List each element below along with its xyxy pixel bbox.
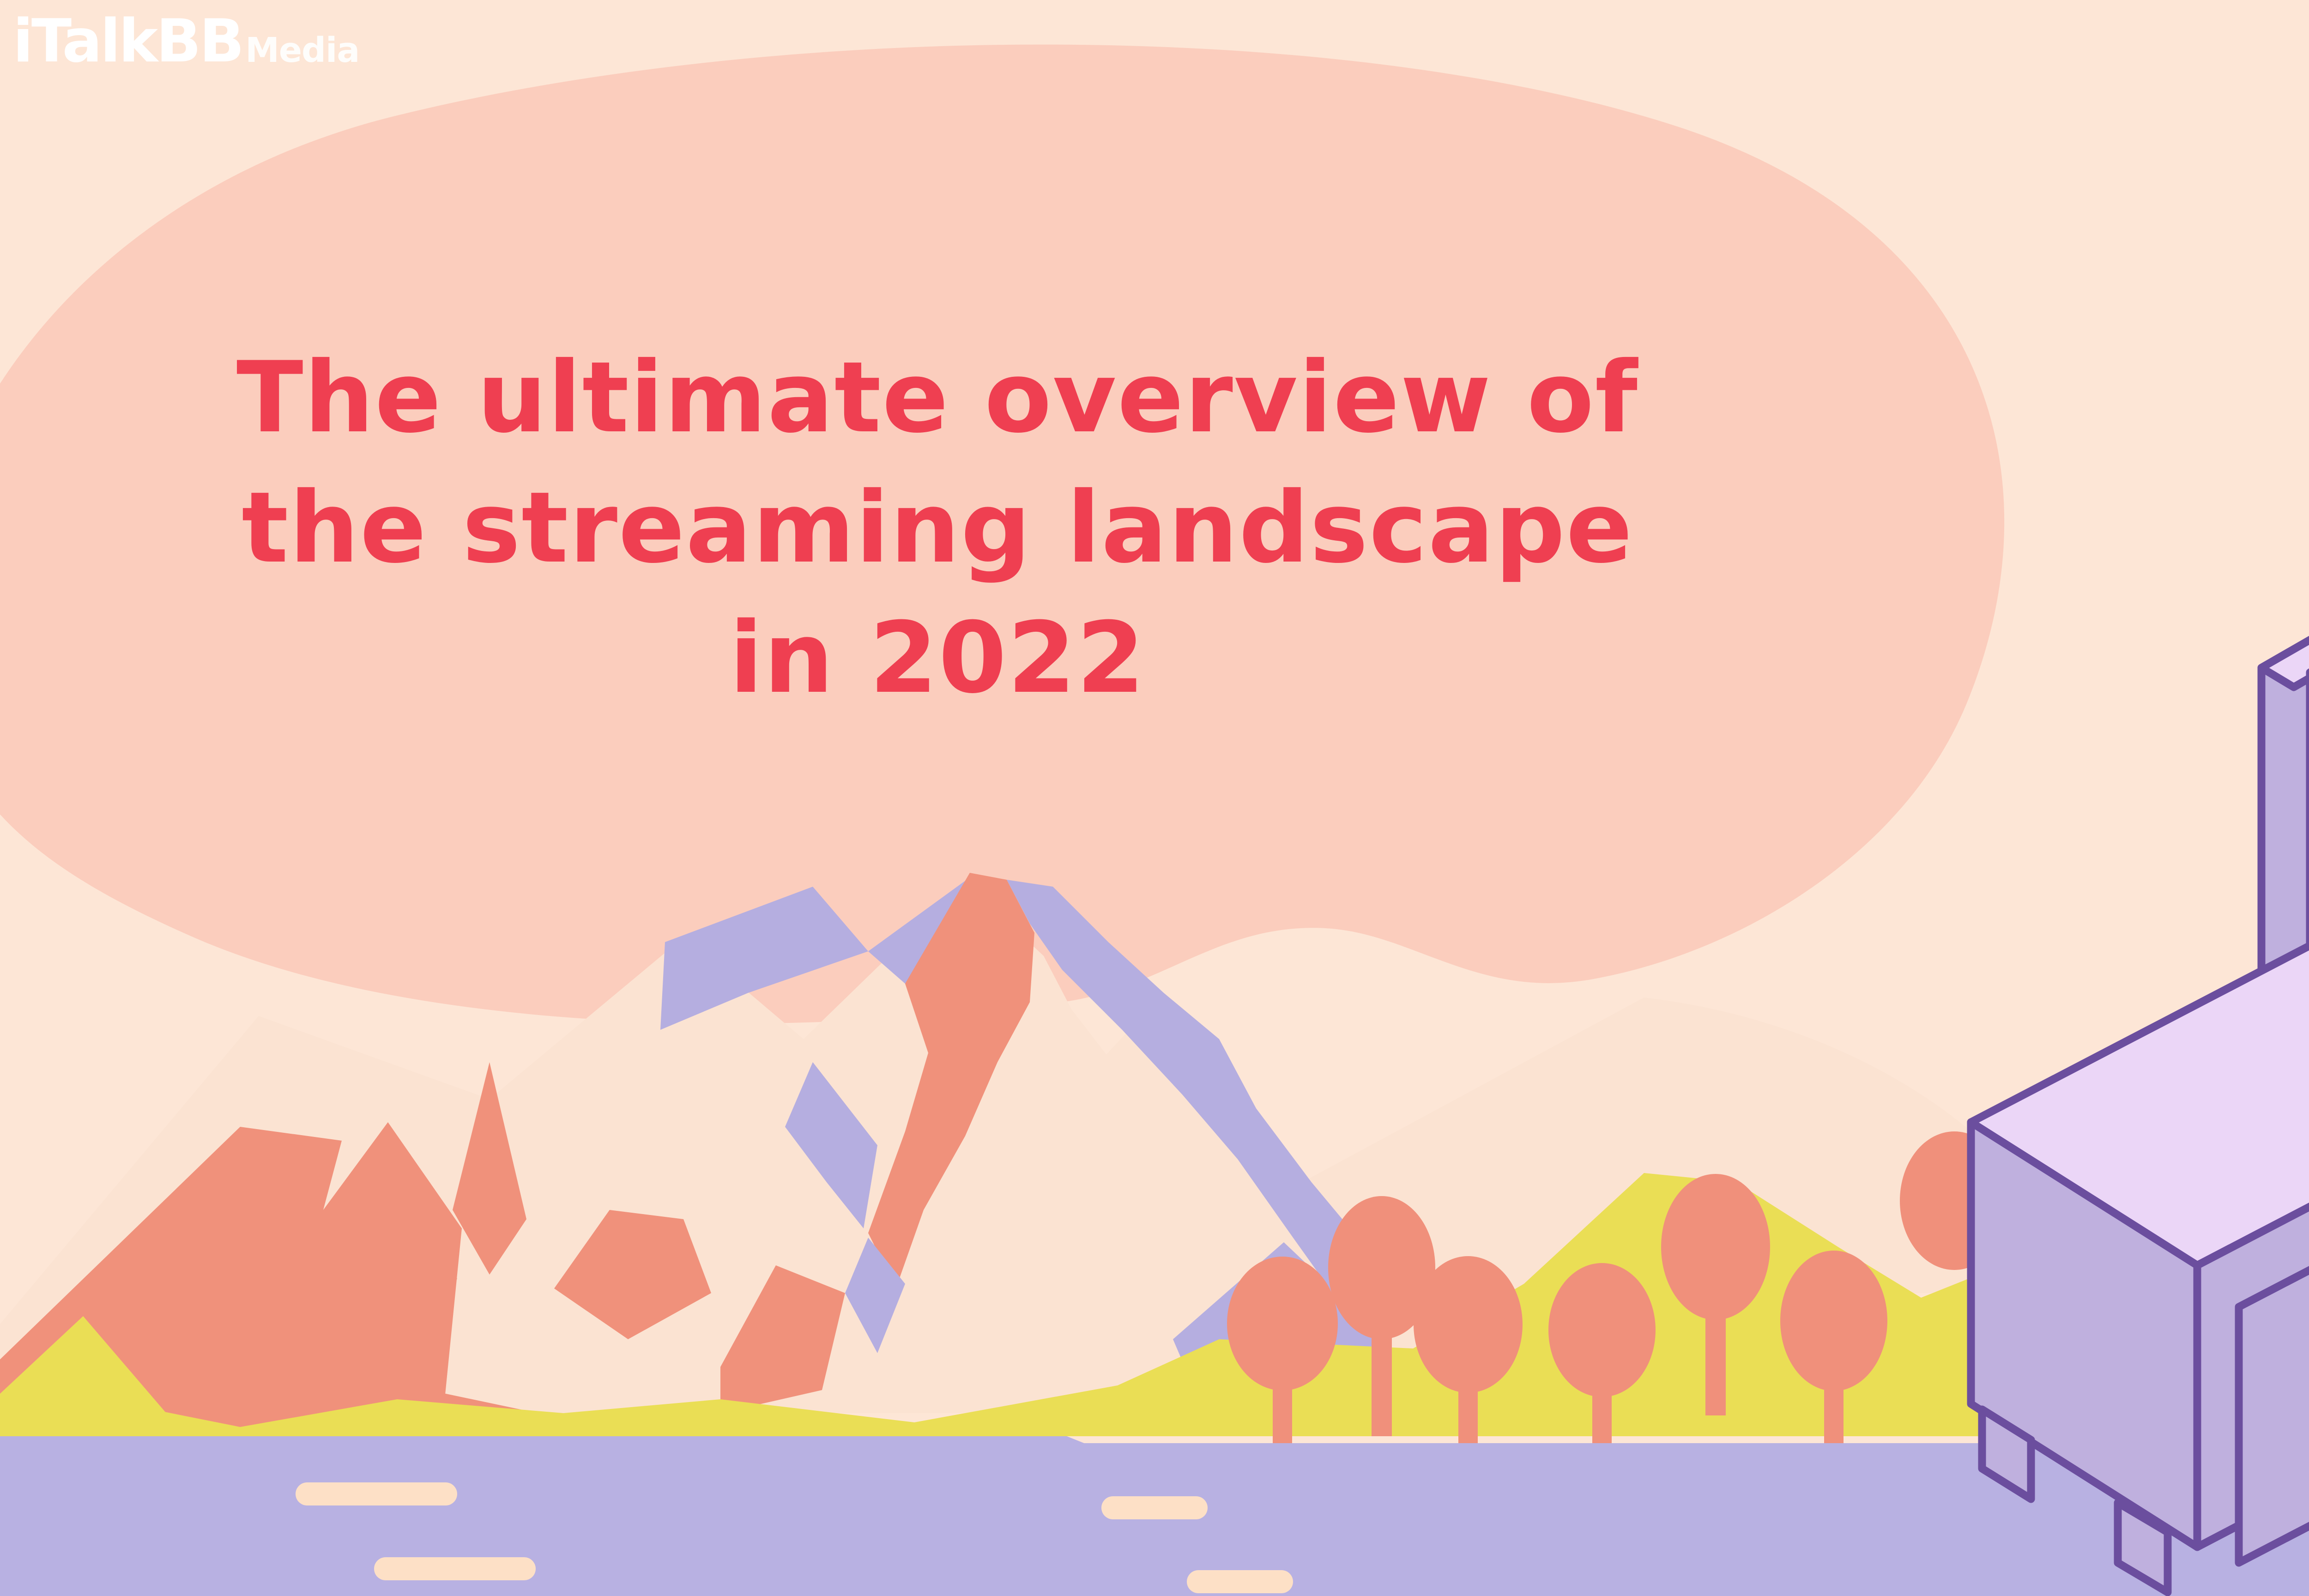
water-band: [0, 1443, 2309, 1596]
water-dash-3: [1101, 1496, 1208, 1519]
water-dash-4: [1187, 1570, 1293, 1593]
scene-illustration: [0, 0, 2309, 1596]
water-dash-1: [296, 1482, 457, 1505]
pink-speech-blob: [0, 44, 2004, 1023]
water-dash-2: [374, 1557, 536, 1580]
poster-canvas: iTalkBB Media The ultimate overview of t…: [0, 0, 2309, 1596]
